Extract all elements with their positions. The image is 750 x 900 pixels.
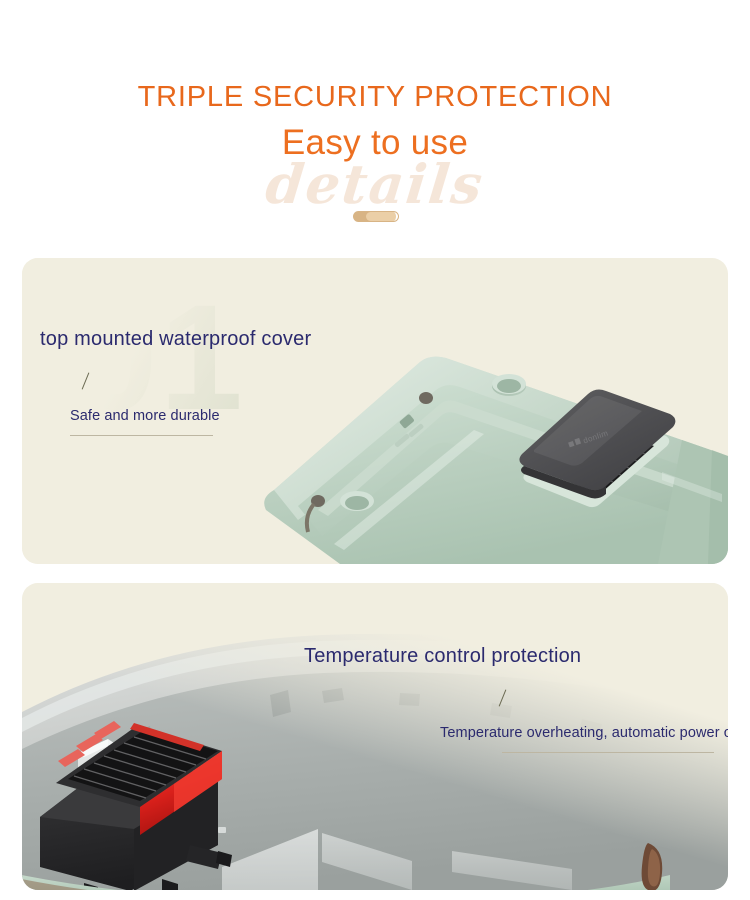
panel-title-01: top mounted waterproof cover	[40, 326, 311, 352]
page-title: TRIPLE SECURITY PROTECTION	[0, 80, 750, 114]
slash-ornament-02	[499, 689, 507, 706]
panel-text-02: Temperature control protection Temperatu…	[304, 643, 728, 753]
panel-subtitle-02: Temperature overheating, automatic power…	[440, 723, 728, 743]
panel-title-02: Temperature control protection	[304, 643, 728, 669]
panel-rule-02	[502, 752, 714, 753]
panel-subtitle-01: Safe and more durable	[70, 406, 311, 426]
slash-ornament-01	[82, 372, 90, 389]
panel-rule-01	[70, 435, 213, 436]
panel-text-01: top mounted waterproof cover Safe and mo…	[40, 326, 311, 436]
pill-divider-ornament	[353, 211, 399, 222]
page-header: details TRIPLE SECURITY PROTECTION Easy …	[0, 0, 750, 250]
headline-group: TRIPLE SECURITY PROTECTION Easy to use	[0, 80, 750, 163]
feature-panel-01: 01	[22, 258, 728, 564]
feature-panel-02: 02	[22, 583, 728, 890]
svg-text:donlim: donlim	[582, 428, 609, 445]
page-subtitle: Easy to use	[0, 123, 750, 163]
pill-divider-inner	[366, 212, 398, 221]
